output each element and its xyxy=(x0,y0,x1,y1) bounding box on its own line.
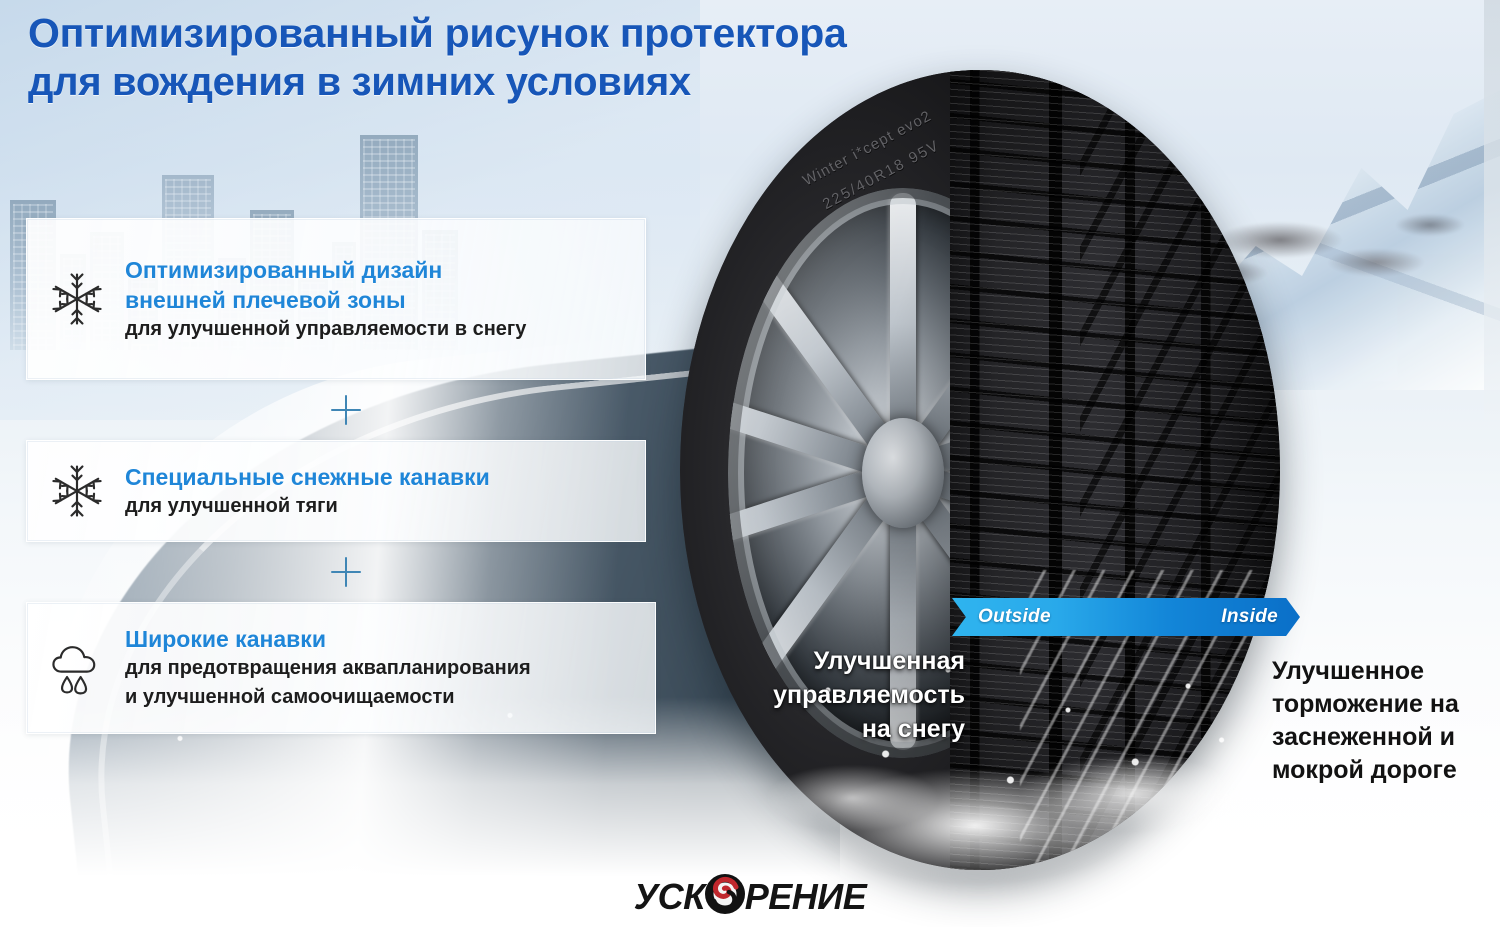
feature-heading-line2: внешней плечевой зоны xyxy=(125,285,627,315)
plus-separator xyxy=(26,542,666,602)
feature-subtext-line2: и улучшенной самоочищаемости xyxy=(125,683,637,712)
feature-card-outer-shoulder[interactable]: Оптимизированный дизайн внешней плечевой… xyxy=(26,218,646,380)
logo-text-part1: Уск xyxy=(634,876,705,918)
feature-list: Оптимизированный дизайн внешней плечевой… xyxy=(26,218,666,734)
plus-separator xyxy=(26,380,666,440)
snowflake-icon xyxy=(45,267,109,331)
caption-braking: Улучшенное торможение на заснеженной и м… xyxy=(1272,655,1494,787)
outside-inside-banner: Outside Inside xyxy=(952,598,1300,636)
feature-card-snow-grooves[interactable]: Специальные снежные канавки для улучшенн… xyxy=(26,440,646,542)
feature-card-text: Оптимизированный дизайн внешней плечевой… xyxy=(125,255,627,344)
feature-heading: Оптимизированный дизайн xyxy=(125,255,627,285)
spiral-o-mark-icon xyxy=(703,872,747,921)
right-edge-strip xyxy=(1484,0,1500,420)
feature-subtext: для улучшенной тяги xyxy=(125,492,627,521)
feature-heading: Широкие канавки xyxy=(125,624,637,654)
tire-tread xyxy=(950,70,1280,870)
banner-label-inside: Inside xyxy=(1221,606,1278,628)
tire-body: Winter i*cept evo2 225/40R18 95V xyxy=(680,70,1280,870)
banner-label-outside: Outside xyxy=(978,606,1051,628)
brand-logo[interactable]: Уск рение xyxy=(0,872,1500,921)
tread-shading xyxy=(950,70,1280,870)
infographic-poster: Оптимизированный рисунок протектора для … xyxy=(0,0,1500,927)
snowflake-icon xyxy=(45,459,109,523)
logo-text-part2: рение xyxy=(745,876,866,918)
feature-subtext: для улучшенной управляемости в снегу xyxy=(125,315,627,344)
caption-snow-handling: Улучшенная управляемость на снегу xyxy=(760,644,965,746)
tire-photo: Winter i*cept evo2 225/40R18 95V xyxy=(660,70,1340,870)
feature-heading: Специальные снежные канавки xyxy=(125,462,627,492)
page-title-line1: Оптимизированный рисунок протектора xyxy=(28,8,1028,58)
feature-card-text: Специальные снежные канавки для улучшенн… xyxy=(125,462,627,521)
feature-card-wide-grooves[interactable]: Широкие канавки для предотвращения аквап… xyxy=(26,602,656,734)
cloud-rain-icon xyxy=(45,636,109,700)
tread-v-grooves xyxy=(1080,70,1280,870)
tread-blocks xyxy=(950,70,1280,870)
feature-card-text: Широкие канавки для предотвращения аквап… xyxy=(125,624,637,712)
feature-subtext: для предотвращения аквапланирования xyxy=(125,654,637,683)
